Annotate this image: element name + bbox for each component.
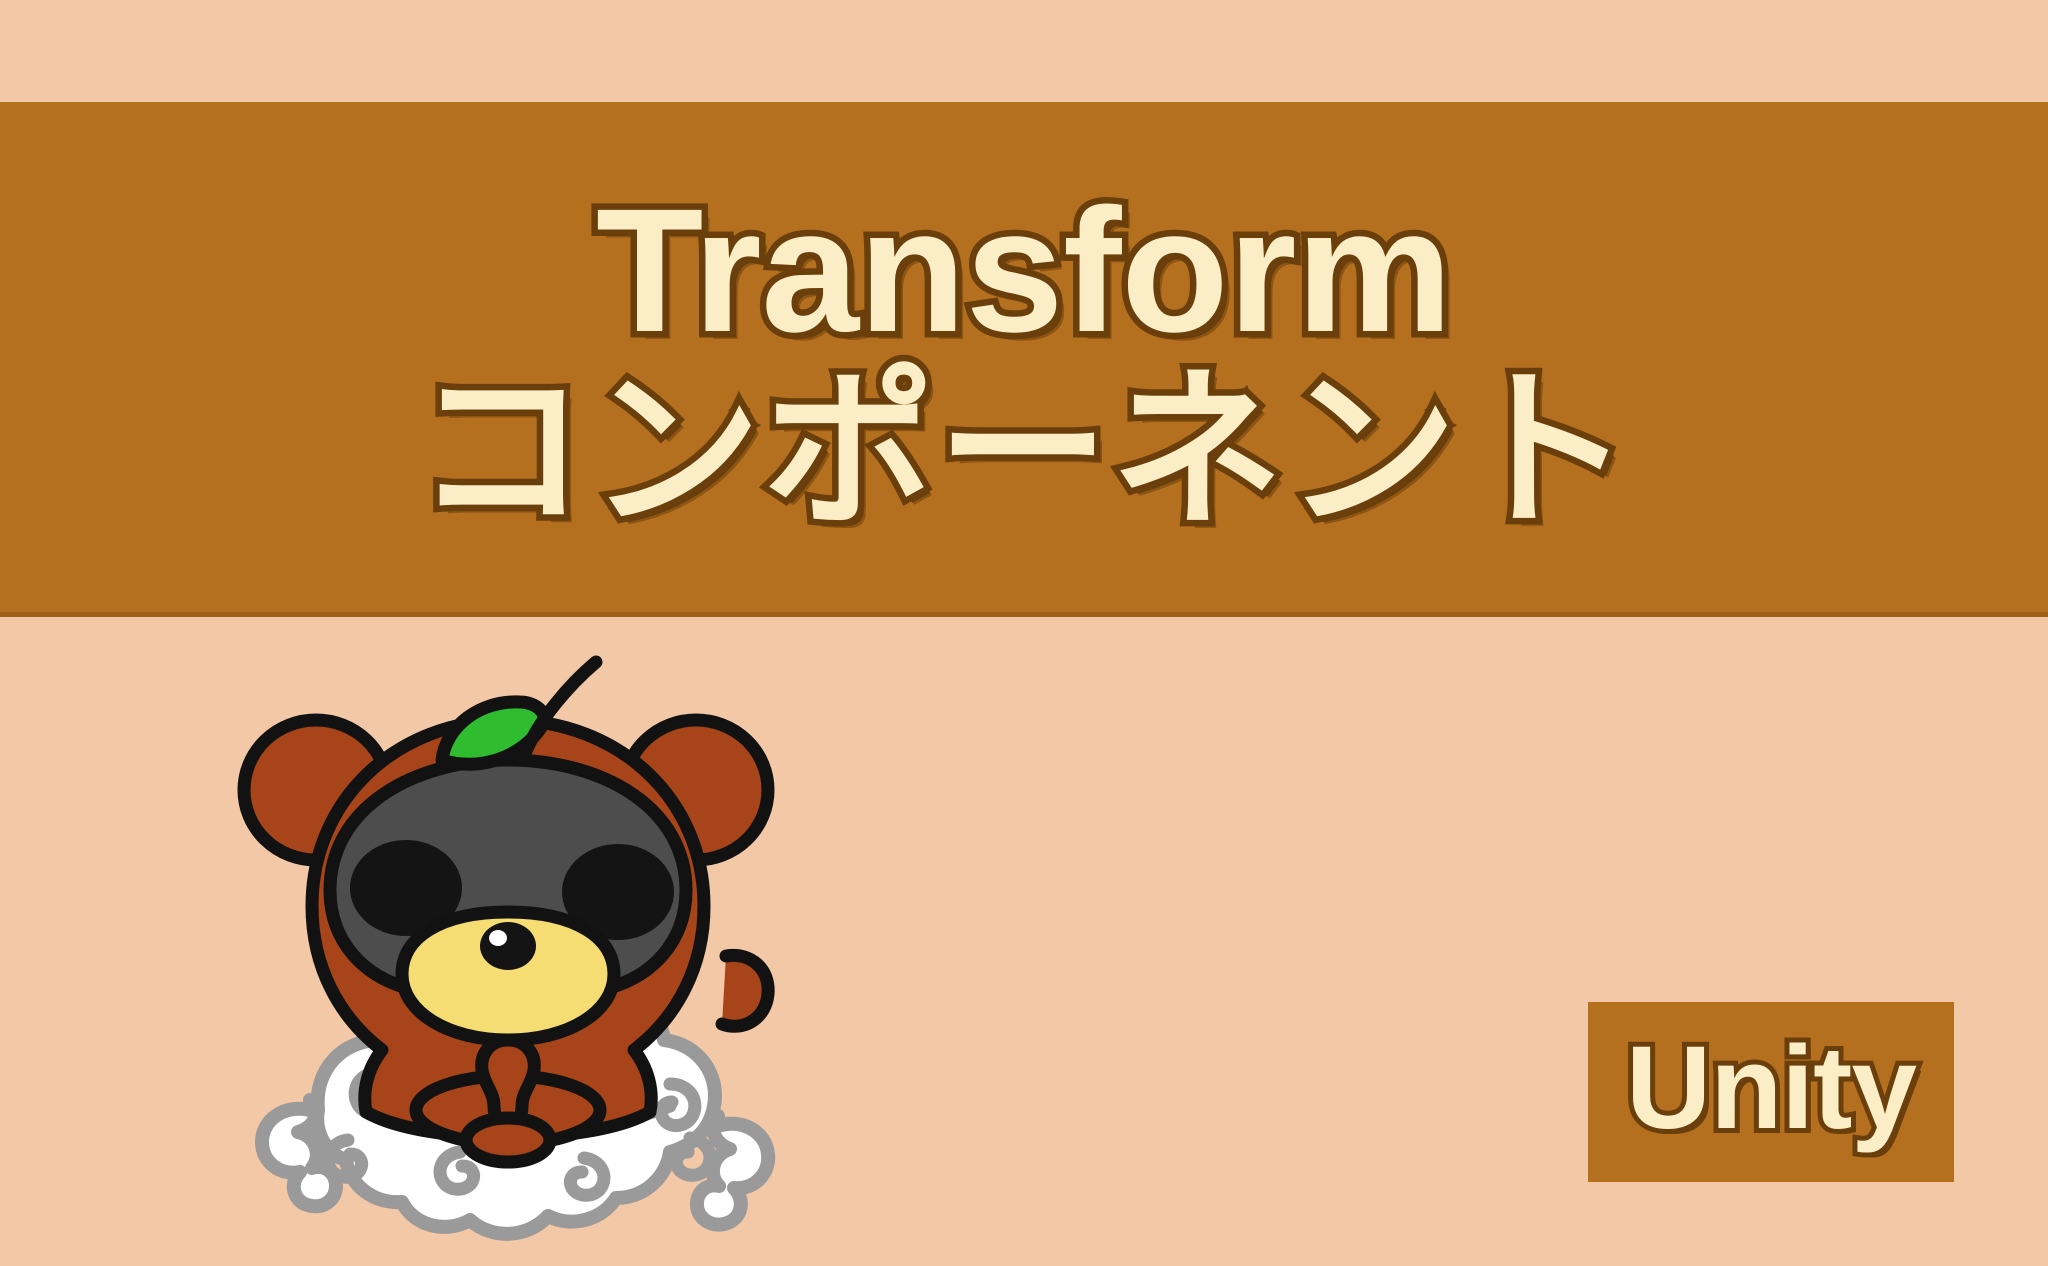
unity-badge-label: Unity [1626,1029,1916,1147]
title-line-english: Transform [596,183,1452,359]
unity-badge: Unity [1588,1002,1954,1182]
tanuki-ninja-mascot [198,640,818,1260]
title-line-japanese: コンポーネント [415,365,1633,537]
title-banner: Transform コンポーネント [0,102,2048,617]
nose [480,922,536,970]
mascot-illustration [198,640,818,1260]
nose-highlight [489,930,507,946]
thumbnail-canvas: Transform コンポーネント [0,0,2048,1266]
paw-nub [722,955,768,1026]
